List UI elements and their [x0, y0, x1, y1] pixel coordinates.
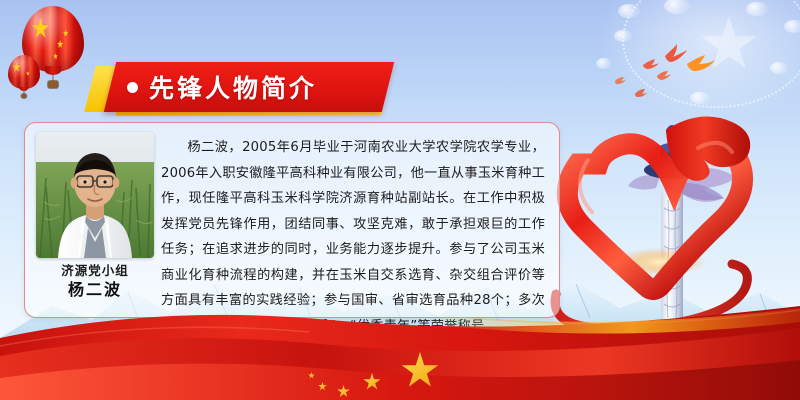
balloon-basket: [21, 94, 26, 98]
bokeh-dot: [770, 62, 788, 74]
bokeh-dot: [618, 4, 640, 18]
portrait-photo: [36, 132, 154, 258]
hot-air-balloon-small: [8, 55, 40, 99]
bokeh-dot: [784, 20, 800, 33]
bottom-red-waves: [0, 282, 800, 400]
balloon-envelope: [8, 55, 40, 89]
balloon-basket: [48, 81, 58, 89]
dove-icon: [642, 58, 660, 70]
page-title: 先锋人物简介: [149, 69, 317, 105]
bokeh-dot: [614, 30, 632, 42]
poster-canvas: 先锋人物简介: [0, 0, 800, 400]
bullet-dot-icon: [127, 82, 138, 93]
profile-group-label: 济源党小组: [61, 263, 129, 279]
bokeh-dot: [596, 58, 612, 69]
dove-icon: [686, 54, 716, 72]
dove-icon: [614, 76, 627, 85]
dove-icon: [662, 42, 688, 64]
bokeh-dot: [746, 2, 768, 16]
banner-inner: 先锋人物简介: [104, 62, 394, 112]
dove-icon: [656, 70, 672, 81]
